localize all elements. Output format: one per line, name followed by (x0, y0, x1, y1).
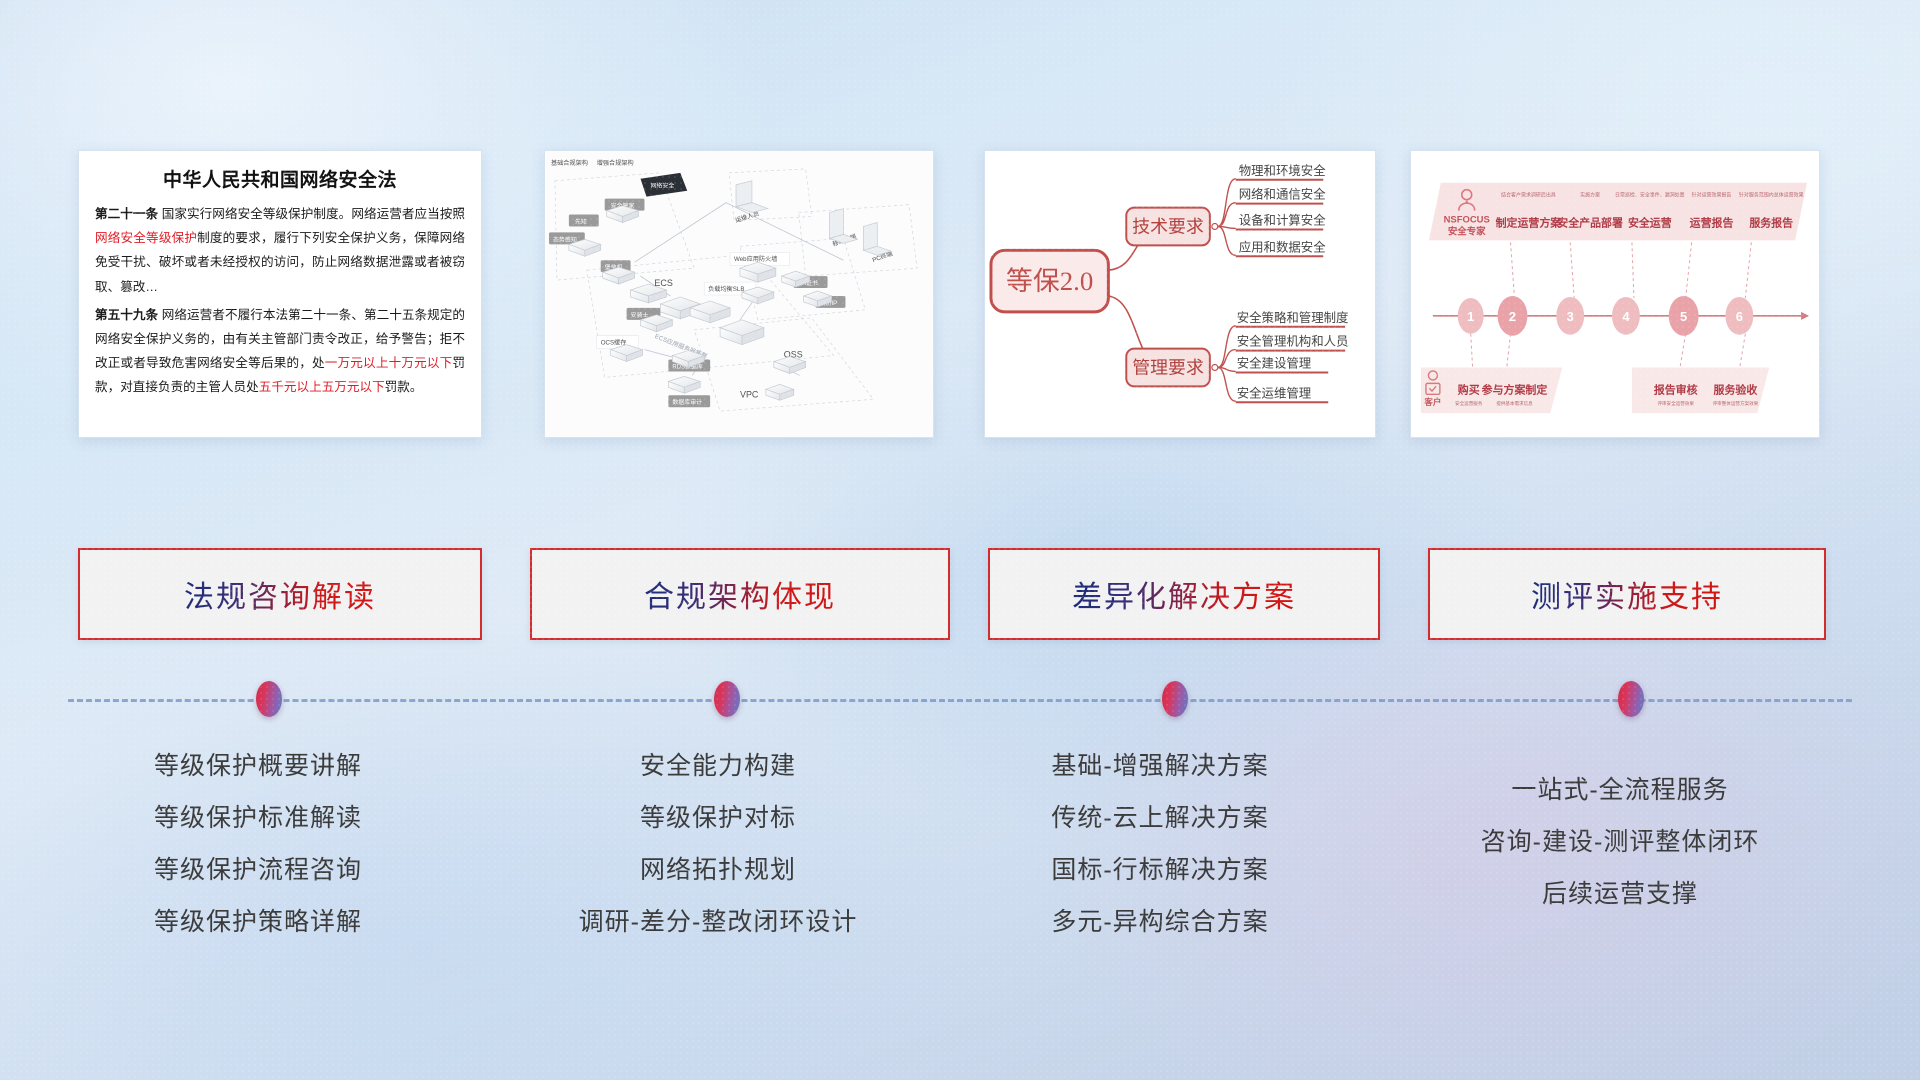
topology-tab-basic[interactable]: 基础合规架构 (551, 159, 588, 167)
service-flow-canvas: NSFOCUS 安全专家 结合客户需求调研后出具 制定运营方案 实施方案 安全产… (1411, 151, 1819, 437)
timeline-dot-3[interactable] (1162, 681, 1188, 717)
mindmap-leaf-mgmt-3: 安全运维管理 (1237, 385, 1312, 400)
header-box-regulation-consulting[interactable]: 法规咨询解读 (78, 548, 482, 640)
topology-node-10: 负载均衡SLB (708, 285, 744, 293)
list-item: 等级保护流程咨询 (58, 844, 458, 896)
list-item: 咨询-建设-测评整体闭环 (1400, 816, 1840, 868)
timeline-dot-2[interactable] (714, 681, 740, 717)
flow-step6-sub: 针对服务范围内总体运营效果 (1739, 192, 1804, 199)
legal-article-21: 第二十一条 国家实行网络安全等级保护制度。网络运营者应当按照网络安全等级保护制度… (95, 202, 465, 299)
topology-node-4: ECS (654, 278, 672, 288)
list-item: 国标-行标解决方案 (950, 844, 1370, 896)
mindmap-branch-mgmt-label: 管理要求 (1132, 357, 1204, 377)
mindmap-collapse-tech[interactable] (1212, 223, 1218, 229)
mindmap-leaf-mgmt-0: 安全策略和管理制度 (1237, 310, 1349, 325)
detail-column-1: 等级保护概要讲解 等级保护标准解读 等级保护流程咨询 等级保护策略详解 (58, 740, 458, 948)
topology-node-6: OCS缓存 (601, 339, 627, 347)
mindmap-leaf-tech-3: 应用和数据安全 (1239, 239, 1327, 254)
flow-expert-sub: 安全专家 (1448, 225, 1486, 237)
header-label-2: 合规架构体现 (644, 572, 836, 616)
list-item: 一站式-全流程服务 (1400, 764, 1840, 816)
mindmap-leaf-tech-2: 设备和计算安全 (1239, 212, 1327, 227)
mindmap-root-label: 等保2.0 (1006, 266, 1093, 296)
flow-step2-title: 制定运营方案 (1496, 215, 1563, 229)
topology-chip-label: 网络安全 (650, 182, 674, 190)
list-item: 等级保护概要讲解 (58, 740, 458, 792)
flow-top-banner (1429, 183, 1807, 241)
topology-node-9: Web应用防火墙 (734, 255, 777, 263)
detail-column-4: 一站式-全流程服务 咨询-建设-测评整体闭环 后续运营支撑 (1400, 764, 1840, 920)
flow-bubble-6: 6 (1736, 309, 1743, 324)
topology-node-14: VPC (740, 389, 759, 399)
timeline-dot-4[interactable] (1618, 681, 1644, 717)
card-mindmap: 等保2.0 技术要求 物理和环境安全 网络和通信 (984, 150, 1376, 438)
article-21-label: 第二十一条 (95, 207, 158, 221)
service-flow-diagram: NSFOCUS 安全专家 结合客户需求调研后出具 制定运营方案 实施方案 安全产… (1411, 151, 1819, 437)
mindmap-collapse-mgmt[interactable] (1212, 365, 1218, 371)
cards-row: 中华人民共和国网络安全法 第二十一条 国家实行网络安全等级保护制度。网络运营者应… (0, 150, 1920, 440)
article-59-text-c: 罚款。 (385, 380, 423, 394)
card-network-topology: 基础合规架构 增强合规架构 (544, 150, 934, 438)
flow-cstep-3-sub: 评审安全运营效果 (1657, 400, 1694, 407)
slide-root: { "cards": { "legal_doc": { "title": "中华… (0, 0, 1920, 1080)
header-box-differentiated-solution[interactable]: 差异化解决方案 (988, 548, 1380, 640)
flow-expert-name: NSFOCUS (1444, 215, 1490, 226)
section-headers: 法规咨询解读 合规架构体现 差异化解决方案 测评实施支持 (0, 548, 1920, 640)
list-item: 等级保护策略详解 (58, 896, 458, 948)
mindmap-leaf-mgmt-1: 安全管理机构和人员 (1237, 334, 1349, 349)
article-59-fine-person: 五千元以上五万元以下 (259, 380, 385, 394)
legal-document-title: 中华人民共和国网络安全法 (95, 165, 465, 192)
topology-node-5: 安骑士 (631, 311, 649, 319)
detail-column-2: 安全能力构建 等级保护对标 网络拓扑规划 调研-差分-整改闭环设计 (508, 740, 928, 948)
flow-step4-sub: 日常巡检、安全事件、漏洞处置 (1615, 192, 1685, 199)
header-label-1: 法规咨询解读 (184, 572, 376, 616)
flow-cstep-1-sub: 安全运营服务 (1455, 400, 1483, 407)
topology-canvas: 基础合规架构 增强合规架构 (545, 151, 933, 437)
flow-bubble-2: 2 (1509, 309, 1516, 324)
flow-cstep-3-title: 报告审核 (1654, 382, 1698, 396)
detail-columns: 等级保护概要讲解 等级保护标准解读 等级保护流程咨询 等级保护策略详解 安全能力… (0, 740, 1920, 1010)
flow-step6-title: 服务报告 (1749, 215, 1793, 229)
flow-step4-title: 安全运营 (1628, 215, 1672, 229)
flow-cstep-2-sub: 提供基本需求信息 (1496, 400, 1533, 407)
timeline (0, 698, 1920, 702)
legal-article-59: 第五十九条 网络运营者不履行本法第二十一条、第二十五条规定的网络安全保护义务的，… (95, 303, 465, 400)
flow-bubble-4: 4 (1622, 309, 1630, 324)
mindmap-branch-tech-label: 技术要求 (1132, 216, 1204, 236)
detail-column-3: 基础-增强解决方案 传统-云上解决方案 国标-行标解决方案 多元-异构综合方案 (950, 740, 1370, 948)
flow-cstep-4-sub: 评审整体运营方案效果 (1713, 400, 1759, 407)
timeline-dashed-line (68, 699, 1852, 702)
mindmap-leaf-tech-1: 网络和通信安全 (1239, 187, 1327, 202)
flow-cstep-2-title: 参与方案制定 (1482, 382, 1548, 396)
flow-step5-title: 运营报告 (1690, 215, 1734, 229)
flow-step3-sub: 实施方案 (1580, 192, 1600, 199)
flow-bubble-1: 1 (1467, 309, 1474, 324)
topology-diagram: 基础合规架构 增强合规架构 (545, 151, 933, 437)
article-21-text-a: 国家实行网络安全等级保护制度。网络运营者应当按照 (162, 207, 465, 221)
list-item: 多元-异构综合方案 (950, 896, 1370, 948)
topology-node-1: 先知 (575, 217, 587, 225)
topology-tab-enhanced[interactable]: 增强合规架构 (597, 159, 634, 167)
article-21-text-highlight: 网络安全等级保护 (95, 231, 197, 245)
flow-bubble-3: 3 (1567, 309, 1574, 324)
flow-step2-sub: 结合客户需求调研后出具 (1501, 192, 1556, 199)
card-service-flow: NSFOCUS 安全专家 结合客户需求调研后出具 制定运营方案 实施方案 安全产… (1410, 150, 1820, 438)
flow-cstep-1-title: 购买 (1458, 382, 1480, 396)
flow-bubble-5: 5 (1680, 309, 1687, 324)
flow-customer-label: 客户 (1423, 397, 1441, 407)
mindmap-diagram: 等保2.0 技术要求 物理和环境安全 网络和通信 (985, 151, 1375, 437)
topology-node-8: 数据库审计 (672, 398, 702, 406)
mindmap-leaf-tech-0: 物理和环境安全 (1239, 163, 1327, 178)
flow-step5-sub: 针对运营效果报告 (1692, 192, 1732, 199)
card-legal-document: 中华人民共和国网络安全法 第二十一条 国家实行网络安全等级保护制度。网络运营者应… (78, 150, 482, 438)
topology-node-2: 态势感知 (553, 235, 577, 243)
article-59-fine-company: 一万元以上十万元以下 (325, 356, 453, 370)
header-box-evaluation-support[interactable]: 测评实施支持 (1428, 548, 1826, 640)
list-item: 网络拓扑规划 (508, 844, 928, 896)
timeline-dot-1[interactable] (256, 681, 282, 717)
flow-step3-title: 安全产品部署 (1557, 215, 1623, 229)
list-item: 基础-增强解决方案 (950, 740, 1370, 792)
article-59-label: 第五十九条 (95, 308, 158, 322)
list-item: 调研-差分-整改闭环设计 (508, 896, 928, 948)
list-item: 等级保护对标 (508, 792, 928, 844)
mindmap-canvas: 等保2.0 技术要求 物理和环境安全 网络和通信 (985, 151, 1375, 437)
legal-document-body: 中华人民共和国网络安全法 第二十一条 国家实行网络安全等级保护制度。网络运营者应… (79, 151, 481, 409)
mindmap-leaf-mgmt-2: 安全建设管理 (1237, 355, 1312, 370)
flow-cstep-4-title: 服务验收 (1714, 382, 1758, 396)
list-item: 等级保护标准解读 (58, 792, 458, 844)
list-item: 传统-云上解决方案 (950, 792, 1370, 844)
list-item: 安全能力构建 (508, 740, 928, 792)
header-label-3: 差异化解决方案 (1072, 572, 1296, 616)
header-box-compliance-architecture[interactable]: 合规架构体现 (530, 548, 950, 640)
header-label-4: 测评实施支持 (1531, 572, 1723, 616)
list-item: 后续运营支撑 (1400, 868, 1840, 920)
